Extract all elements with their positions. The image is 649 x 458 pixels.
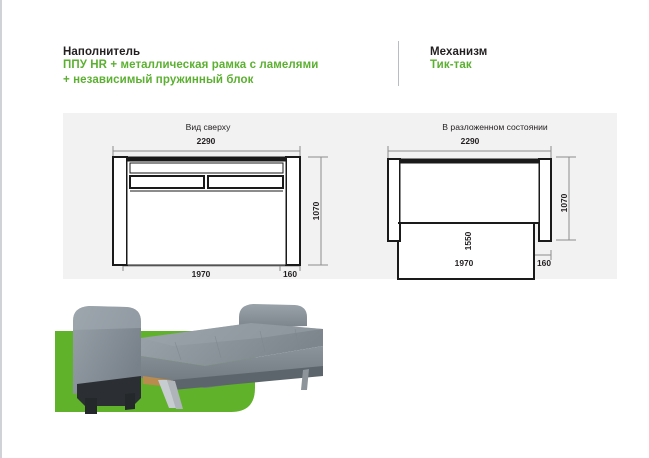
spec-sheet-page: Наполнитель ППУ HR + металлическая рамка… bbox=[0, 0, 649, 458]
dim-label-top-depth: 1070 bbox=[311, 201, 321, 220]
dim-label-open-armrest: 160 bbox=[537, 258, 551, 268]
spec-value-filling-line2: + независимый пружинный блок bbox=[63, 73, 393, 88]
spec-block-mechanism: Механизм Тик-так bbox=[430, 46, 620, 73]
header-divider bbox=[398, 41, 399, 86]
spec-value-mechanism: Тик-так bbox=[430, 58, 620, 73]
spec-value-mechanism-line1: Тик-так bbox=[430, 58, 620, 73]
dim-label-open-overall-width: 2290 bbox=[461, 136, 480, 146]
dim-label-open-bed-depth: 1550 bbox=[463, 231, 473, 250]
page-left-edge bbox=[0, 0, 2, 458]
spec-value-filling-line1: ППУ HR + металлическая рамка с ламелями bbox=[63, 58, 393, 73]
spec-block-filling: Наполнитель ППУ HR + металлическая рамка… bbox=[63, 46, 393, 88]
dim-label-open-inner-width: 1970 bbox=[455, 258, 474, 268]
diagram-unfolded-view: 2290 1970 160 1070 1550 bbox=[360, 113, 617, 279]
spec-label-filling: Наполнитель bbox=[63, 46, 393, 58]
dim-label-top-overall-width: 2290 bbox=[197, 136, 216, 146]
spec-label-mechanism: Механизм bbox=[430, 46, 620, 58]
diagram-top-view: 2290 1970 160 1070 bbox=[63, 113, 353, 279]
spec-value-filling: ППУ HR + металлическая рамка с ламелями … bbox=[63, 58, 393, 88]
dim-label-open-depth: 1070 bbox=[559, 193, 569, 212]
product-photo bbox=[55, 276, 375, 426]
